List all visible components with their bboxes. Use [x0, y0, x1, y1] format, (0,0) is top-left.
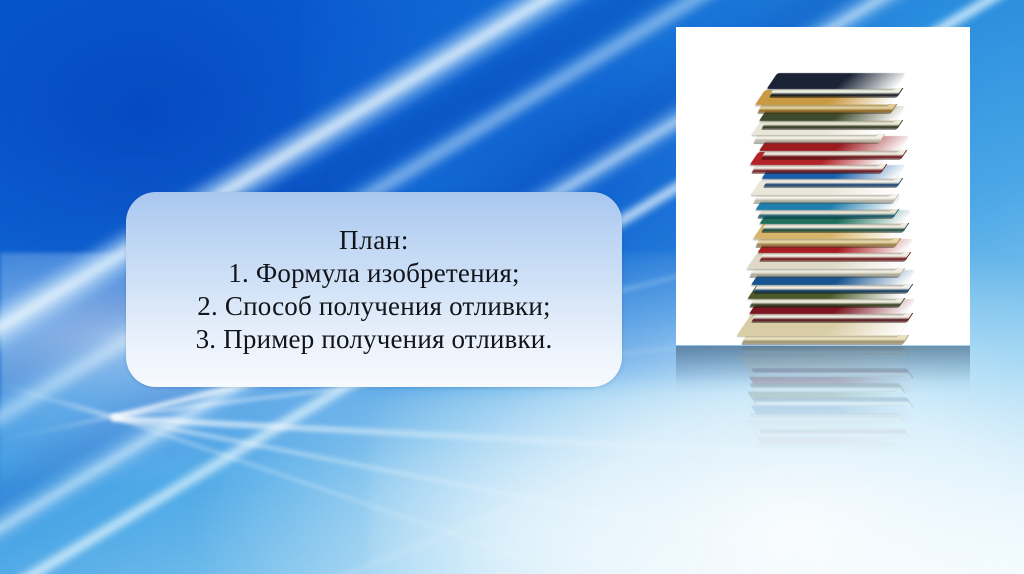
book-stack	[676, 27, 970, 345]
slide-canvas: План: 1. Формула изобретения; 2. Способ …	[0, 0, 1024, 574]
stack-of-books-photo	[676, 27, 970, 345]
book-pages	[750, 268, 905, 275]
book-pages	[764, 178, 903, 185]
plan-heading: План:	[339, 224, 409, 257]
book-pages	[762, 223, 909, 230]
book-cover	[767, 73, 906, 89]
plan-text-box: План: 1. Формула изобретения; 2. Способ …	[126, 192, 622, 387]
background-highlight-bottom	[184, 390, 860, 574]
book-pages	[756, 238, 901, 245]
book-pages	[762, 150, 907, 157]
book-1	[772, 73, 900, 89]
plan-item-3: 3. Пример получения отливки.	[196, 323, 553, 356]
book-pages	[752, 313, 913, 320]
book-pages	[742, 335, 909, 342]
book-pages	[770, 88, 903, 95]
book-pages	[758, 104, 897, 111]
book-pages	[750, 298, 905, 305]
book-pages	[762, 120, 903, 127]
book-pages	[754, 284, 913, 291]
book-pages	[758, 209, 899, 216]
book-pages	[754, 194, 899, 201]
book-pages	[760, 252, 911, 259]
book-pages	[752, 164, 887, 171]
plan-item-1: 1. Формула изобретения;	[228, 257, 519, 290]
plan-item-2: 2. Способ получения отливки;	[197, 290, 550, 323]
book-pages	[754, 134, 885, 141]
